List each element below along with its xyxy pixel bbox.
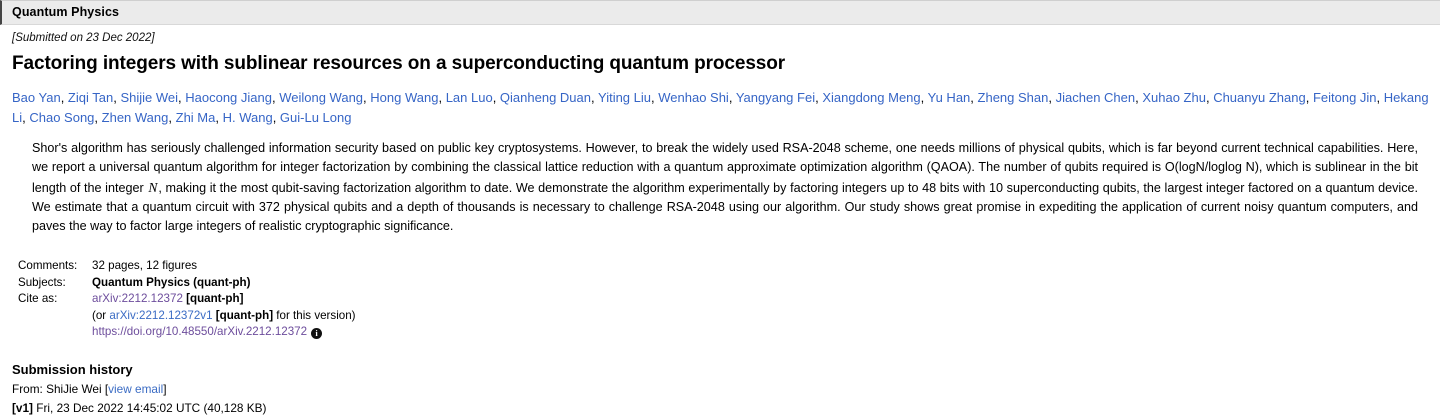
- author-sep: ,: [168, 110, 175, 125]
- submission-from-prefix: From: ShiJie Wei [: [12, 382, 108, 396]
- abstract-part-2: , making it the most qubit-saving factor…: [32, 181, 1418, 234]
- author-link[interactable]: Shijie Wei: [120, 90, 178, 105]
- subject-header-label: Quantum Physics: [2, 6, 119, 19]
- author-sep: ,: [61, 90, 68, 105]
- table-row-comments: Comments: 32 pages, 12 figures: [10, 258, 356, 274]
- submission-from-line: From: ShiJie Wei [view email]: [10, 381, 1430, 398]
- author-link[interactable]: Bao Yan: [12, 90, 61, 105]
- comments-value: 32 pages, 12 figures: [92, 258, 356, 274]
- cite-doi-line: https://doi.org/10.48550/arXiv.2212.1237…: [92, 324, 356, 340]
- author-sep: ,: [273, 110, 280, 125]
- author-sep: ,: [1377, 90, 1384, 105]
- author-link[interactable]: Weilong Wang: [279, 90, 363, 105]
- author-link[interactable]: Feitong Jin: [1313, 90, 1377, 105]
- author-sep: ,: [921, 90, 928, 105]
- comments-label: Comments:: [10, 258, 92, 274]
- version-prefix-text: (or: [92, 309, 109, 322]
- author-sep: ,: [591, 90, 598, 105]
- table-row-subjects: Subjects: Quantum Physics (quant-ph): [10, 275, 356, 291]
- author-link[interactable]: Gui-Lu Long: [280, 110, 352, 125]
- author-link[interactable]: Jiachen Chen: [1056, 90, 1136, 105]
- author-link[interactable]: Chuanyu Zhang: [1213, 90, 1306, 105]
- submitted-date-line: [Submitted on 23 Dec 2022]: [10, 32, 1430, 46]
- submission-version-line: [v1] Fri, 23 Dec 2022 14:45:02 UTC (40,1…: [10, 400, 1430, 417]
- author-sep: ,: [493, 90, 500, 105]
- version-suffix-text: for this version): [273, 309, 355, 322]
- submission-from-suffix: ]: [163, 382, 166, 396]
- cite-as-label: Cite as:: [10, 291, 92, 340]
- author-sep: ,: [94, 110, 101, 125]
- author-sep: ,: [215, 110, 222, 125]
- author-link[interactable]: Haocong Jiang: [185, 90, 272, 105]
- doi-link[interactable]: https://doi.org/10.48550/arXiv.2212.1237…: [92, 325, 307, 338]
- author-link[interactable]: Qianheng Duan: [500, 90, 591, 105]
- author-sep: ,: [970, 90, 977, 105]
- author-link[interactable]: Lan Luo: [446, 90, 493, 105]
- arxiv-id-link[interactable]: arXiv:2212.12372: [92, 292, 183, 305]
- cite-as-value: arXiv:2212.12372 [quant-ph] (or arXiv:22…: [92, 291, 356, 340]
- paper-page: [Submitted on 23 Dec 2022] Factoring int…: [0, 32, 1440, 417]
- author-link[interactable]: Zhi Ma: [176, 110, 216, 125]
- submission-history-heading: Submission history: [10, 361, 1430, 379]
- arxiv-version-link[interactable]: arXiv:2212.12372v1: [109, 309, 212, 322]
- abstract-text: Shor's algorithm has seriously challenge…: [32, 139, 1418, 236]
- author-link[interactable]: Xiangdong Meng: [822, 90, 920, 105]
- author-link[interactable]: Wenhao Shi: [658, 90, 729, 105]
- table-row-cite-as: Cite as: arXiv:2212.12372 [quant-ph] (or…: [10, 291, 356, 340]
- subject-header-bar: Quantum Physics: [0, 0, 1440, 25]
- author-link[interactable]: Xuhao Zhu: [1142, 90, 1206, 105]
- subjects-label: Subjects:: [10, 275, 92, 291]
- version-category-tag: [quant-ph]: [216, 309, 273, 322]
- cite-primary-line: arXiv:2212.12372 [quant-ph]: [92, 291, 356, 307]
- arxiv-category-tag: [quant-ph]: [186, 292, 243, 305]
- author-sep: ,: [1048, 90, 1055, 105]
- subjects-value: Quantum Physics (quant-ph): [92, 275, 356, 291]
- author-link[interactable]: Hong Wang: [370, 90, 438, 105]
- author-sep: ,: [1306, 90, 1313, 105]
- page-title: Factoring integers with sublinear resour…: [10, 52, 1430, 76]
- author-link[interactable]: Zhen Wang: [102, 110, 169, 125]
- cite-version-line: (or arXiv:2212.12372v1 [quant-ph] for th…: [92, 308, 356, 324]
- view-email-link[interactable]: view email: [108, 382, 163, 396]
- author-sep: ,: [438, 90, 445, 105]
- author-link[interactable]: Chao Song: [29, 110, 94, 125]
- abstract-math-variable: N: [147, 180, 158, 195]
- author-link[interactable]: Yangyang Fei: [736, 90, 815, 105]
- author-list: Bao Yan, Ziqi Tan, Shijie Wei, Haocong J…: [10, 88, 1430, 127]
- author-link[interactable]: Zheng Shan: [978, 90, 1049, 105]
- info-icon[interactable]: i: [311, 328, 322, 339]
- author-link[interactable]: H. Wang: [223, 110, 273, 125]
- author-link[interactable]: Yiting Liu: [598, 90, 651, 105]
- author-sep: ,: [729, 90, 736, 105]
- metadata-table: Comments: 32 pages, 12 figures Subjects:…: [10, 258, 356, 340]
- author-link[interactable]: Ziqi Tan: [68, 90, 113, 105]
- author-link[interactable]: Yu Han: [928, 90, 971, 105]
